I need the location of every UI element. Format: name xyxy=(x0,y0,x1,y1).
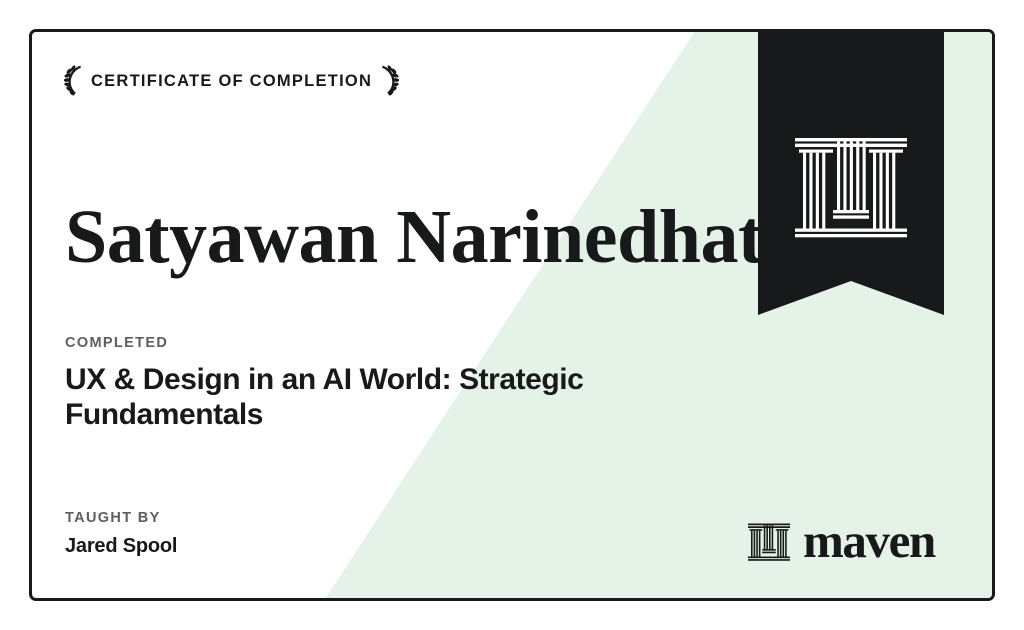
certificate-eyebrow: CERTIFICATE OF COMPLETION xyxy=(64,64,399,98)
laurel-branch-left-icon xyxy=(64,64,84,98)
maven-logo: maven xyxy=(748,519,935,567)
instructor-section: TAUGHT BY Jared Spool xyxy=(65,511,485,558)
certificate-card: CERTIFICATE OF COMPLETION Satyawan Narin… xyxy=(29,29,995,601)
completed-section: COMPLETED UX & Design in an AI World: St… xyxy=(65,336,725,432)
taught-by-label: TAUGHT BY xyxy=(65,511,485,526)
completed-label: COMPLETED xyxy=(65,336,725,351)
course-title: UX & Design in an AI World: Strategic Fu… xyxy=(65,362,725,432)
maven-pillars-logo-icon xyxy=(748,522,790,564)
maven-wordmark: maven xyxy=(803,516,935,565)
instructor-name: Jared Spool xyxy=(65,535,485,558)
award-banner xyxy=(758,32,944,315)
laurel-branch-right-icon xyxy=(379,64,399,98)
certificate-eyebrow-label: CERTIFICATE OF COMPLETION xyxy=(91,73,372,90)
maven-pillars-emblem-icon xyxy=(795,138,907,242)
recipient-name: Satyawan Narinedhat xyxy=(65,199,763,275)
